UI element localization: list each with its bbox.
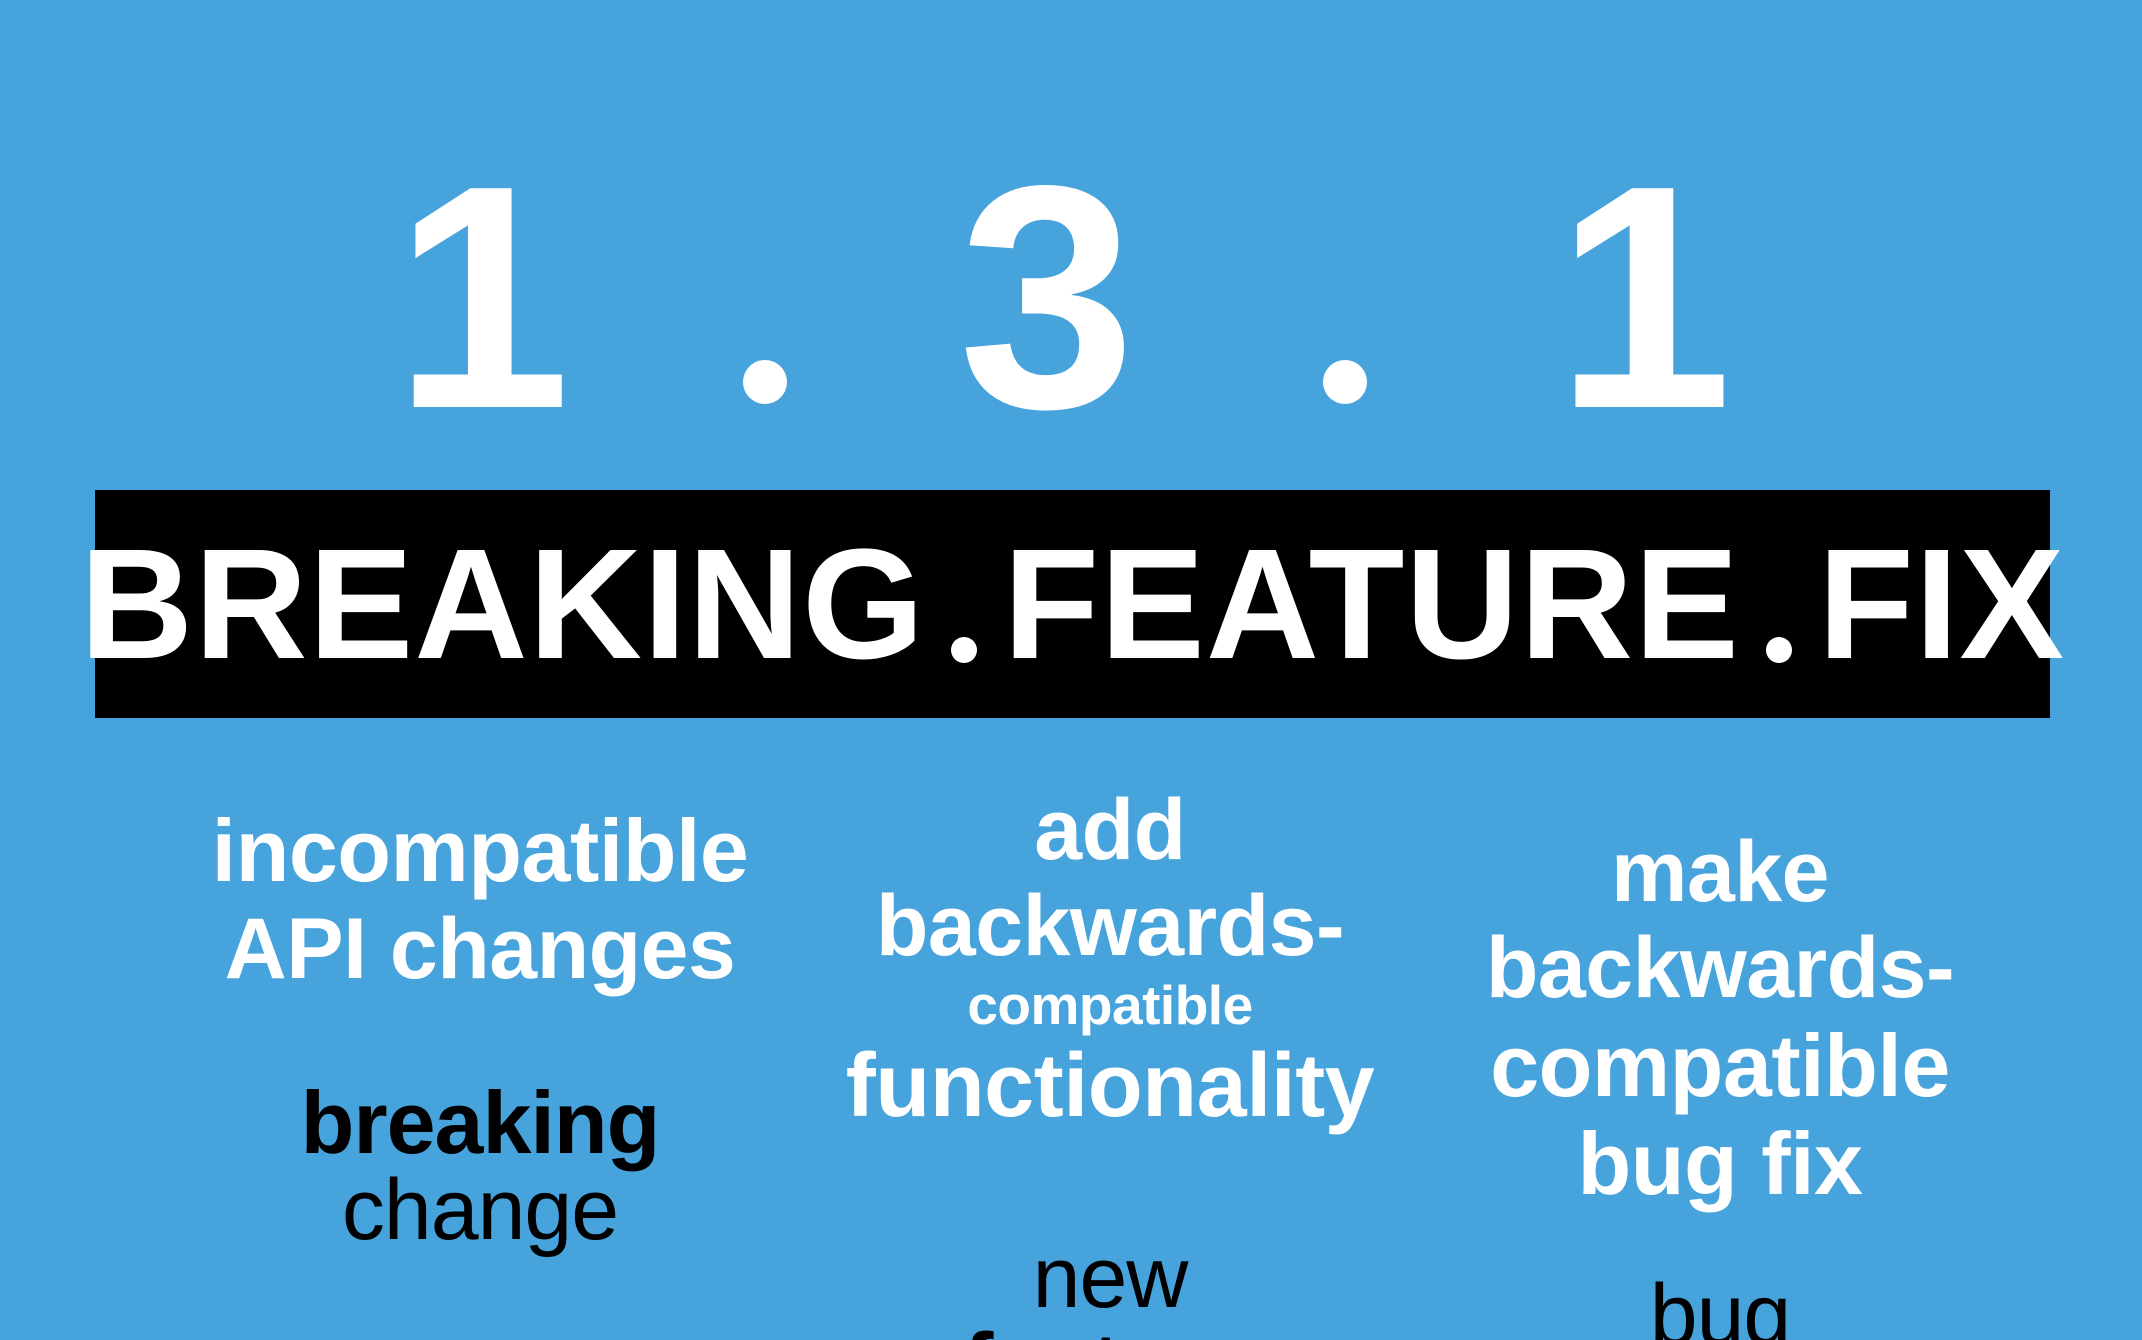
band-label-fix: FIX [1818, 526, 2065, 683]
term-line: bug [1430, 1272, 2010, 1340]
explanation-columns: incompatible API changes breaking change… [0, 780, 2142, 1220]
description-line: API changes [180, 901, 780, 997]
band-dot-icon-2 [1766, 637, 1792, 663]
column-bug-fix: make backwards- compatible bug fix bug f… [1430, 780, 2010, 1340]
description-line: incompatible [180, 802, 780, 901]
version-major-digit: 1 [394, 174, 571, 422]
column-feature-description: add backwards- compatible functionality [830, 782, 1390, 1137]
column-fix-term: bug fix [1430, 1272, 2010, 1340]
band-label-feature: FEATURE [1003, 526, 1740, 683]
column-feature-term: new feature [830, 1235, 1390, 1340]
version-dot-icon-1 [743, 360, 787, 404]
term-line: new [830, 1235, 1390, 1321]
column-breaking-term: breaking change [180, 1079, 780, 1253]
column-new-feature: add backwards- compatible functionality … [830, 780, 1390, 1340]
version-minor-digit: 3 [959, 174, 1136, 422]
term-line: feature [830, 1321, 1390, 1340]
description-line: make backwards- [1430, 824, 2010, 1017]
description-line: functionality [830, 1036, 1390, 1137]
column-fix-description: make backwards- compatible bug fix [1430, 824, 2010, 1214]
description-line: compatible bug fix [1430, 1017, 2010, 1214]
version-patch-digit: 1 [1555, 174, 1732, 422]
semver-poster: 1 3 1 BREAKING FEATURE FIX incompatible … [0, 0, 2142, 1340]
version-number-row: 1 3 1 [0, 132, 2142, 422]
version-dot-icon-2 [1323, 360, 1367, 404]
term-line: breaking [180, 1079, 780, 1167]
description-line: add backwards- [830, 782, 1390, 975]
band-label-breaking: BREAKING [80, 526, 925, 683]
term-line: change [180, 1167, 780, 1253]
column-breaking-change: incompatible API changes breaking change [180, 780, 780, 1253]
semver-band-text: BREAKING FEATURE FIX [80, 526, 2065, 683]
column-breaking-description: incompatible API changes [180, 802, 780, 997]
description-line: compatible [830, 975, 1390, 1037]
band-dot-icon-1 [951, 637, 977, 663]
semver-band: BREAKING FEATURE FIX [95, 490, 2050, 718]
